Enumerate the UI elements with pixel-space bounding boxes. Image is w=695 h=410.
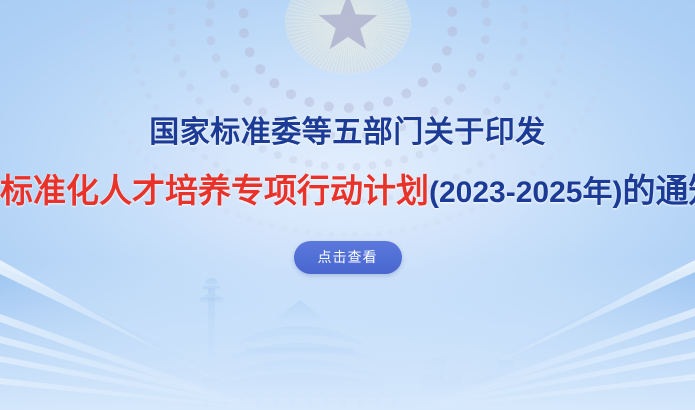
banner-headline: 国家标准委等五部门关于印发 标准化人才培养专项行动计划(2023-2025年)的… (0, 118, 695, 208)
emblem-ring-outer-2 (238, 0, 458, 113)
star-icon (317, 0, 379, 52)
emblem-ring-inner-disc (285, 0, 411, 74)
huabiao-column (196, 278, 227, 384)
gate-main-roof (190, 359, 410, 394)
emblem-sunburst-rays (286, 0, 410, 73)
headline-year-range: (2023-2025年) (429, 176, 622, 209)
bottom-scenery-decoration (0, 260, 695, 410)
cta-container: 点击查看 (0, 241, 695, 274)
tiananmen-gate-illustration (0, 260, 695, 410)
gate-roofs (218, 300, 382, 364)
great-wall-silhouette (420, 358, 560, 410)
headline-line-1: 国家标准委等五部门关于印发 (0, 118, 695, 148)
view-details-button[interactable]: 点击查看 (294, 241, 402, 274)
headline-suffix: 的通知 (622, 172, 695, 209)
bottom-haze-overlay (0, 260, 695, 410)
headline-plan-name: 标准化人才培养专项行动计划 (0, 172, 429, 209)
gate-colonnade (196, 394, 406, 410)
diagonal-light-streaks (0, 260, 695, 410)
gate-base-wall (180, 402, 422, 410)
policy-notice-banner: 国家标准委等五部门关于印发 标准化人才培养专项行动计划(2023-2025年)的… (0, 0, 695, 410)
headline-line-2: 标准化人才培养专项行动计划(2023-2025年)的通知 (0, 174, 695, 208)
